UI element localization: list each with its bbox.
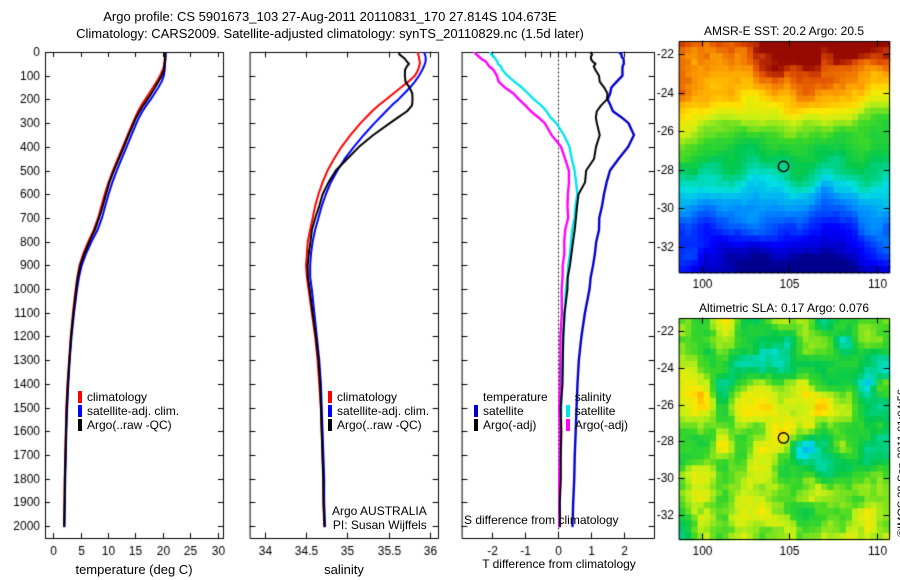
attribution-block: Argo AUSTRALIA PI: Susan Wijffels bbox=[332, 504, 427, 532]
legend-label: climatology bbox=[87, 390, 147, 404]
legend-item: climatology bbox=[78, 390, 179, 404]
legend-item: Argo(-adj) bbox=[566, 418, 628, 432]
legend-item: satellite bbox=[566, 404, 628, 418]
legend-label: climatology bbox=[337, 390, 397, 404]
legend-swatch bbox=[78, 391, 82, 403]
temperature-legend: climatologysatellite-adj. clim.Argo(..ra… bbox=[78, 390, 179, 432]
legend-label: Argo(-adj) bbox=[483, 418, 536, 432]
legend-item: satellite bbox=[474, 404, 548, 418]
legend-label: Argo(..raw -QC) bbox=[87, 418, 172, 432]
legend-label: satellite bbox=[575, 404, 616, 418]
legend-item: satellite-adj. clim. bbox=[328, 404, 429, 418]
legend-item: Argo(..raw -QC) bbox=[328, 418, 429, 432]
legend-column: temperaturesatelliteArgo(-adj) bbox=[474, 390, 548, 432]
legend-label: satellite-adj. clim. bbox=[87, 404, 179, 418]
legend-swatch bbox=[328, 391, 332, 403]
attribution-line-1: Argo AUSTRALIA bbox=[332, 504, 427, 518]
legend-swatch bbox=[474, 419, 478, 431]
salinity-difference-axis-label: S difference from climatology bbox=[464, 513, 656, 527]
legend-swatch bbox=[566, 405, 570, 417]
salinity-axis-label: salinity bbox=[250, 562, 438, 577]
legend-label: satellite bbox=[483, 404, 524, 418]
legend-label: satellite-adj. clim. bbox=[337, 404, 429, 418]
figure-canvas bbox=[0, 0, 900, 580]
legend-header: temperature bbox=[483, 390, 548, 404]
legend-item: satellite-adj. clim. bbox=[78, 404, 179, 418]
sst-map-title: AMSR-E SST: 20.2 Argo: 20.5 bbox=[669, 24, 899, 38]
sla-map-title: Altimetric SLA: 0.17 Argo: 0.076 bbox=[669, 301, 899, 315]
legend-swatch bbox=[474, 405, 478, 417]
legend-item: Argo(-adj) bbox=[474, 418, 548, 432]
legend-swatch bbox=[328, 419, 332, 431]
salinity-legend: climatologysatellite-adj. clim.Argo(..ra… bbox=[328, 390, 429, 432]
legend-column: salinitysatelliteArgo(-adj) bbox=[566, 390, 628, 432]
legend-item: climatology bbox=[328, 390, 429, 404]
temperature-difference-axis-label: T difference from climatology bbox=[460, 557, 658, 571]
legend-label: Argo(-adj) bbox=[575, 418, 628, 432]
attribution-line-2: PI: Susan Wijffels bbox=[332, 518, 427, 532]
legend-header: salinity bbox=[575, 390, 628, 404]
difference-legend: temperaturesatelliteArgo(-adj)salinitysa… bbox=[474, 390, 628, 432]
legend-item: Argo(..raw -QC) bbox=[78, 418, 179, 432]
imos-credit: ©IMOS 28-Sep-2011 01:04:56 bbox=[896, 389, 900, 537]
legend-label: Argo(..raw -QC) bbox=[337, 418, 422, 432]
legend-swatch bbox=[78, 419, 82, 431]
temperature-axis-label: temperature (deg C) bbox=[45, 562, 223, 577]
legend-swatch bbox=[78, 405, 82, 417]
legend-swatch bbox=[566, 419, 570, 431]
legend-swatch bbox=[328, 405, 332, 417]
